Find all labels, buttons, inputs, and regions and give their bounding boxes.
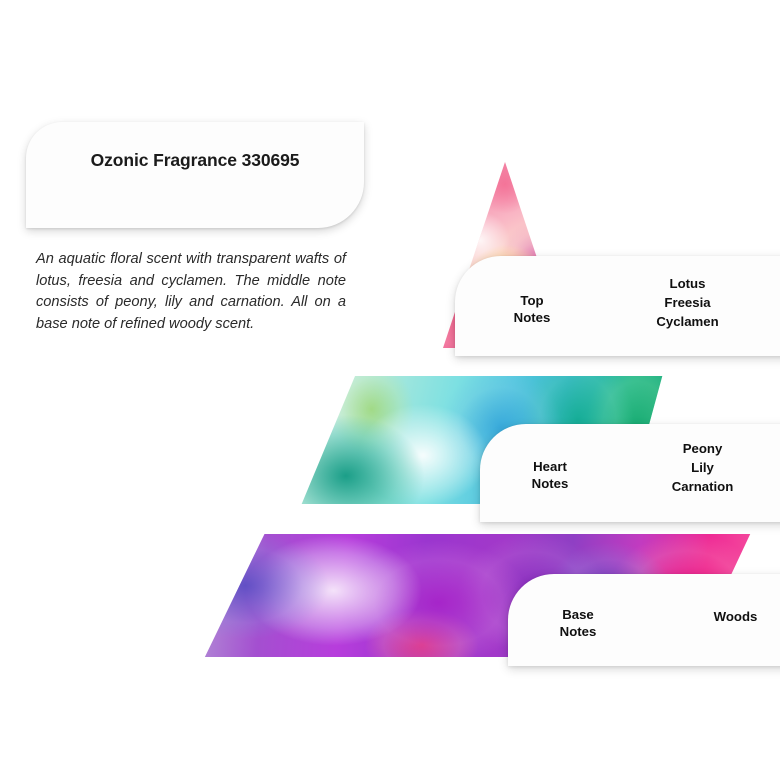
top-notes-values: Lotus Freesia Cyclamen (605, 274, 770, 331)
heart-notes-card[interactable]: Heart Notes Peony Lily Carnation (480, 424, 780, 522)
page-title: Ozonic Fragrance 330695 (26, 150, 364, 171)
heart-notes-label: Heart Notes (500, 458, 600, 492)
heart-notes-values: Peony Lily Carnation (620, 439, 780, 496)
base-notes-label: Base Notes (528, 606, 628, 640)
top-notes-label: Top Notes (485, 292, 579, 326)
top-notes-card[interactable]: Top Notes Lotus Freesia Cyclamen (455, 256, 780, 356)
base-notes-card[interactable]: Base Notes Woods (508, 574, 780, 666)
title-card: Ozonic Fragrance 330695 (26, 122, 364, 228)
description-text: An aquatic floral scent with transparent… (36, 249, 346, 335)
base-notes-values: Woods (653, 607, 780, 626)
fragrance-pyramid-infographic: Ozonic Fragrance 330695 An aquatic flora… (0, 0, 780, 780)
